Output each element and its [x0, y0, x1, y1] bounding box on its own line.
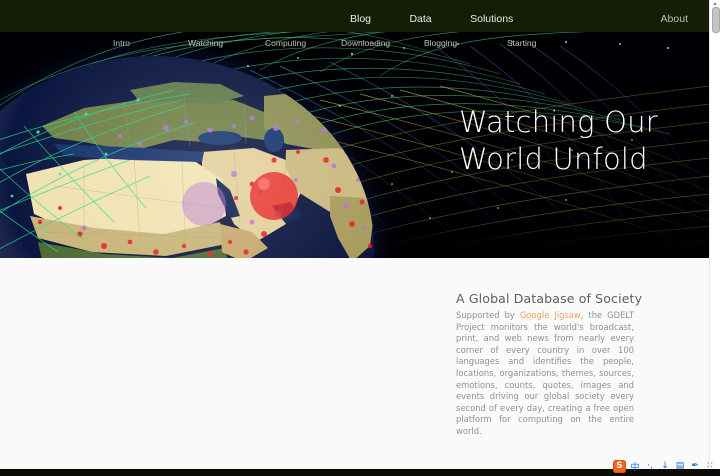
globe-sphere [0, 56, 374, 258]
secondary-navigation: About [661, 9, 688, 27]
subnav-item-downloading[interactable]: Downloading [341, 38, 390, 48]
subnav-item-blogging[interactable]: Blogging [424, 38, 457, 48]
main-navigation: Blog Data Solutions [350, 9, 547, 27]
ime-soft-keyboard-icon[interactable]: ▤ [674, 460, 686, 473]
ime-punctuation-icon[interactable]: ·, [644, 460, 656, 473]
section-title: A Global Database of Society [456, 291, 642, 306]
google-jigsaw-link[interactable]: Google Jigsaw [520, 310, 581, 320]
scroll-up-arrow-icon[interactable] [710, 0, 720, 6]
taskbar [0, 469, 720, 476]
subnav-item-starting[interactable]: Starting [507, 38, 536, 48]
nav-item-solutions[interactable]: Solutions [470, 13, 513, 25]
page-viewport: Watching Our World Unfold [0, 0, 710, 469]
globe-visualization[interactable] [0, 56, 374, 258]
hero-section: Watching Our World Unfold [0, 0, 710, 258]
subnav-item-computing[interactable]: Computing [265, 38, 306, 48]
nav-item-data[interactable]: Data [409, 13, 431, 25]
content-section: A Global Database of Society Supported b… [0, 258, 710, 469]
hero-headline-line2: World Unfold [459, 141, 658, 178]
hero-headline: Watching Our World Unfold [459, 104, 658, 178]
sogou-ime-toolbar: S 中 ·, ↓ ▤ ✒ ∷ [613, 456, 716, 476]
section-body-post: , the GDELT Project monitors the world's… [456, 310, 634, 436]
ime-language-mode-icon[interactable]: 中 [629, 460, 641, 473]
hero-headline-line1: Watching Our [459, 104, 658, 141]
subnav-item-intro[interactable]: Intro [113, 38, 130, 48]
subnav-item-watching[interactable]: Watching [188, 38, 223, 48]
globe-map-graphic [0, 56, 374, 258]
ime-menu-grid-icon[interactable]: ∷ [704, 460, 716, 473]
page-scrollbar[interactable] [709, 0, 720, 469]
sub-navigation: Intro Watching Computing Downloading Blo… [0, 33, 710, 55]
nav-item-about[interactable]: About [661, 13, 688, 25]
section-body-pre: Supported by [456, 310, 520, 320]
sogou-logo-icon[interactable]: S [613, 460, 626, 473]
scrollbar-thumb[interactable] [712, 7, 720, 33]
browser-window: Watching Our World Unfold [0, 0, 720, 476]
ime-voice-input-icon[interactable]: ↓ [659, 460, 671, 473]
ime-toolbox-icon[interactable]: ✒ [689, 460, 701, 473]
section-body: Supported by Google Jigsaw, the GDELT Pr… [456, 310, 634, 438]
nav-item-blog[interactable]: Blog [350, 13, 371, 25]
